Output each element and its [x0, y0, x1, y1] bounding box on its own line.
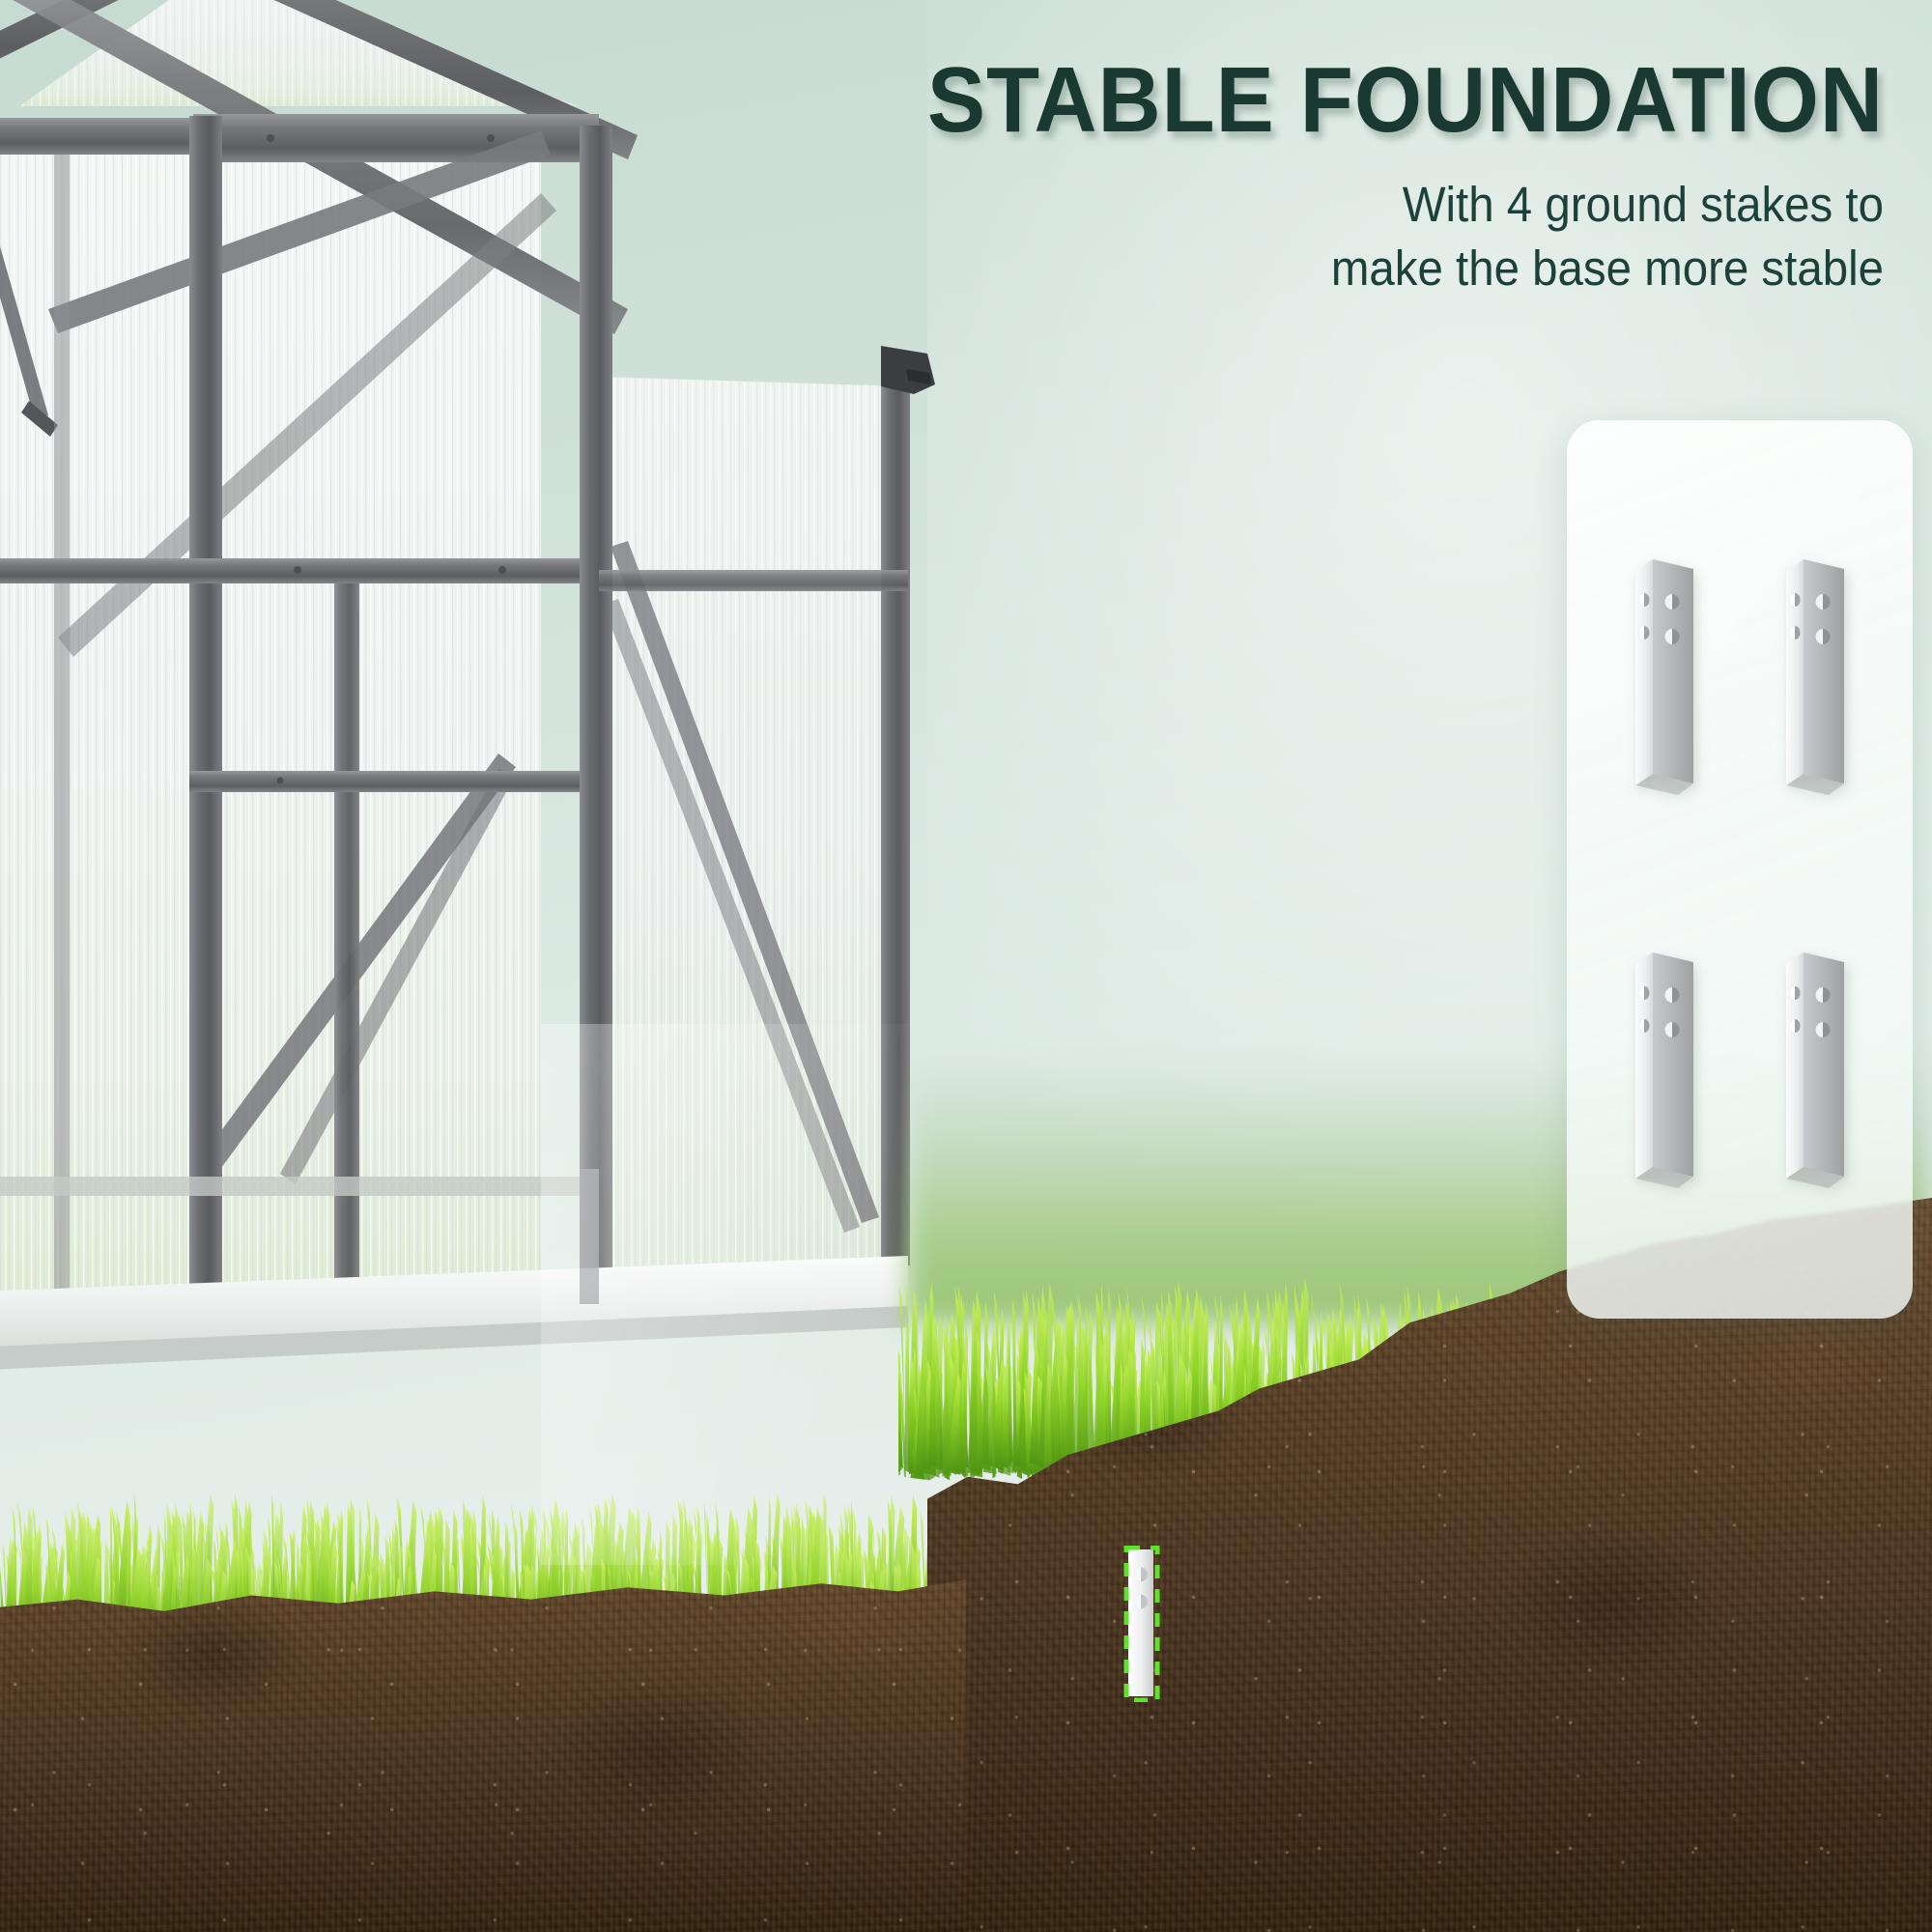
- installed-ground-stake: [1121, 1546, 1165, 1702]
- ground-stake-2: [1780, 554, 1850, 795]
- ground-stakes-grid: [1567, 420, 1913, 1319]
- product-feature-image: STABLE FOUNDATION With 4 ground stakes t…: [0, 0, 1932, 1932]
- corner-bracket: [881, 346, 935, 394]
- soil-speckle-texture-left: [0, 1536, 966, 1932]
- ground-stake-4: [1780, 947, 1850, 1188]
- page-title: STABLE FOUNDATION: [740, 53, 1884, 148]
- headline-block: STABLE FOUNDATION With 4 ground stakes t…: [667, 53, 1884, 301]
- ground-stakes-panel: [1567, 420, 1913, 1319]
- soil-cross-section-left: [0, 1536, 966, 1932]
- ground-stake-1: [1630, 554, 1699, 795]
- subtitle: With 4 ground stakes to make the base mo…: [752, 173, 1884, 301]
- ground-stake-3: [1630, 947, 1699, 1188]
- subtitle-line-1: With 4 ground stakes to: [752, 173, 1884, 237]
- subtitle-line-2: make the base more stable: [752, 237, 1884, 300]
